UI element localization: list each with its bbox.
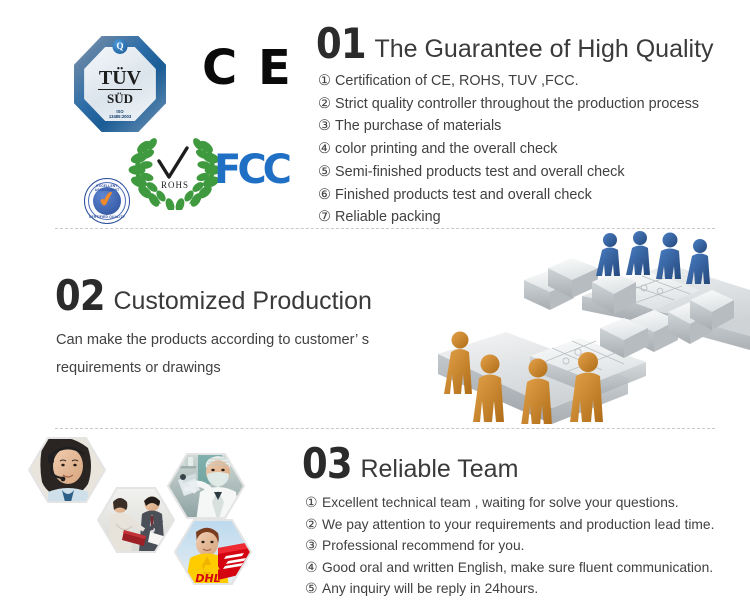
list-marker: ① xyxy=(318,70,335,93)
list-text: Good oral and written English, make sure… xyxy=(322,560,713,575)
tuv-divider-rule xyxy=(98,89,142,90)
rohs-laurel-icon: ROHS xyxy=(125,125,225,210)
list-text: Professional recommend for you. xyxy=(322,538,524,553)
tuv-sud-logo: Q TÜV SÜD ISO 13485:2003 xyxy=(74,36,166,132)
list-item: ⑥Finished products test and overall chec… xyxy=(318,184,699,207)
section-guarantee-of-high-quality: Q TÜV SÜD ISO 13485:2003 C E xyxy=(0,0,750,228)
list-marker: ⑤ xyxy=(318,161,335,184)
section-01-heading: 01 The Guarantee of High Quality xyxy=(316,24,714,64)
section-01-feature-list: ①Certification of CE, ROHS, TUV ,FCC. ②S… xyxy=(318,70,699,229)
list-text: Finished products test and overall check xyxy=(335,187,592,203)
certification-logo-group: Q TÜV SÜD ISO 13485:2003 C E xyxy=(62,22,302,230)
list-text: We pay attention to your requirements an… xyxy=(322,517,714,532)
blue-figure xyxy=(596,233,620,276)
blue-figure xyxy=(626,231,650,275)
section-reliable-team: DHL 03 Reliable Team ①Excellent technica… xyxy=(0,428,750,616)
section-02-heading: 02 Customized Production xyxy=(55,276,372,316)
list-marker: ② xyxy=(305,514,322,536)
list-item: ②We pay attention to your requirements a… xyxy=(305,514,714,536)
list-item: ⑦Reliable packing xyxy=(318,206,699,229)
blue-figure xyxy=(686,239,710,284)
tuv-brand-label: TÜV xyxy=(74,68,166,88)
list-text: Excellent technical team , waiting for s… xyxy=(322,495,679,510)
tuv-region-label: SÜD xyxy=(74,91,166,106)
list-marker: ⑤ xyxy=(305,578,322,600)
list-text: The purchase of materials xyxy=(335,118,501,134)
list-marker: ⑥ xyxy=(318,184,335,207)
tuv-standard-line2: 13485:2003 xyxy=(74,114,166,120)
list-item: ③Professional recommend for you. xyxy=(305,535,714,557)
list-item: ④color printing and the overall check xyxy=(318,138,699,161)
badge-top-text: EXCELLENT ASSESSMENT xyxy=(84,184,130,192)
section-03-number: 03 xyxy=(302,444,352,484)
rohs-logo: ROHS xyxy=(125,125,225,210)
badge-bottom-text: CERTIFIED QUALITY xyxy=(84,215,130,219)
section-03-heading: 03 Reliable Team xyxy=(302,444,518,484)
list-item: ④Good oral and written English, make sur… xyxy=(305,557,714,579)
photo-business-meeting xyxy=(98,488,174,552)
list-marker: ⑦ xyxy=(318,206,335,229)
list-item: ⑤Any inquiry will be reply in 24hours. xyxy=(305,578,714,600)
list-marker: ② xyxy=(318,93,335,116)
quality-assessment-badge: ✔ EXCELLENT ASSESSMENT CERTIFIED QUALITY xyxy=(84,178,130,224)
feature-page: Q TÜV SÜD ISO 13485:2003 C E xyxy=(0,0,750,616)
puzzle-scene xyxy=(438,231,750,424)
list-marker: ③ xyxy=(318,115,335,138)
list-item: ⑤Semi-finished products test and overall… xyxy=(318,161,699,184)
list-text: Any inquiry will be reply in 24hours. xyxy=(322,581,538,596)
list-text: Certification of CE, ROHS, TUV ,FCC. xyxy=(335,73,579,89)
list-marker: ④ xyxy=(318,138,335,161)
section-02-body: Can make the products according to custo… xyxy=(56,326,411,382)
ce-mark-logo: C E xyxy=(202,44,293,92)
list-text: Reliable packing xyxy=(335,209,441,225)
photo-lab-technician xyxy=(168,454,244,522)
list-text: color printing and the overall check xyxy=(335,141,557,157)
photo-customer-service-agent xyxy=(29,437,105,504)
tuv-quality-mark-icon: Q xyxy=(113,39,128,54)
section-02-title: Customized Production xyxy=(113,287,371,316)
list-item: ①Certification of CE, ROHS, TUV ,FCC. xyxy=(318,70,699,93)
section-01-title: The Guarantee of High Quality xyxy=(374,35,713,64)
list-item: ②Strict quality controller throughout th… xyxy=(318,93,699,116)
list-text: Strict quality controller throughout the… xyxy=(335,96,699,112)
section-03-feature-list: ①Excellent technical team , waiting for … xyxy=(305,492,714,600)
blue-figure xyxy=(656,233,681,280)
rohs-label: ROHS xyxy=(161,180,189,190)
puzzle-teamwork-illustration xyxy=(432,228,750,424)
hexagon-photo-collage: DHL xyxy=(12,432,298,614)
section-01-number: 01 xyxy=(316,24,366,64)
list-item: ①Excellent technical team , waiting for … xyxy=(305,492,714,514)
list-marker: ④ xyxy=(305,557,322,579)
list-marker: ③ xyxy=(305,535,322,557)
section-customized-production: 02 Customized Production Can make the pr… xyxy=(0,228,750,428)
section-02-number: 02 xyxy=(55,276,105,316)
fcc-logo: FCC xyxy=(214,150,288,190)
list-item: ③The purchase of materials xyxy=(318,115,699,138)
section-03-title: Reliable Team xyxy=(360,455,518,484)
list-marker: ① xyxy=(305,492,322,514)
photo-dhl-courier-delivery: DHL xyxy=(175,520,251,586)
list-text: Semi-finished products test and overall … xyxy=(335,164,625,180)
